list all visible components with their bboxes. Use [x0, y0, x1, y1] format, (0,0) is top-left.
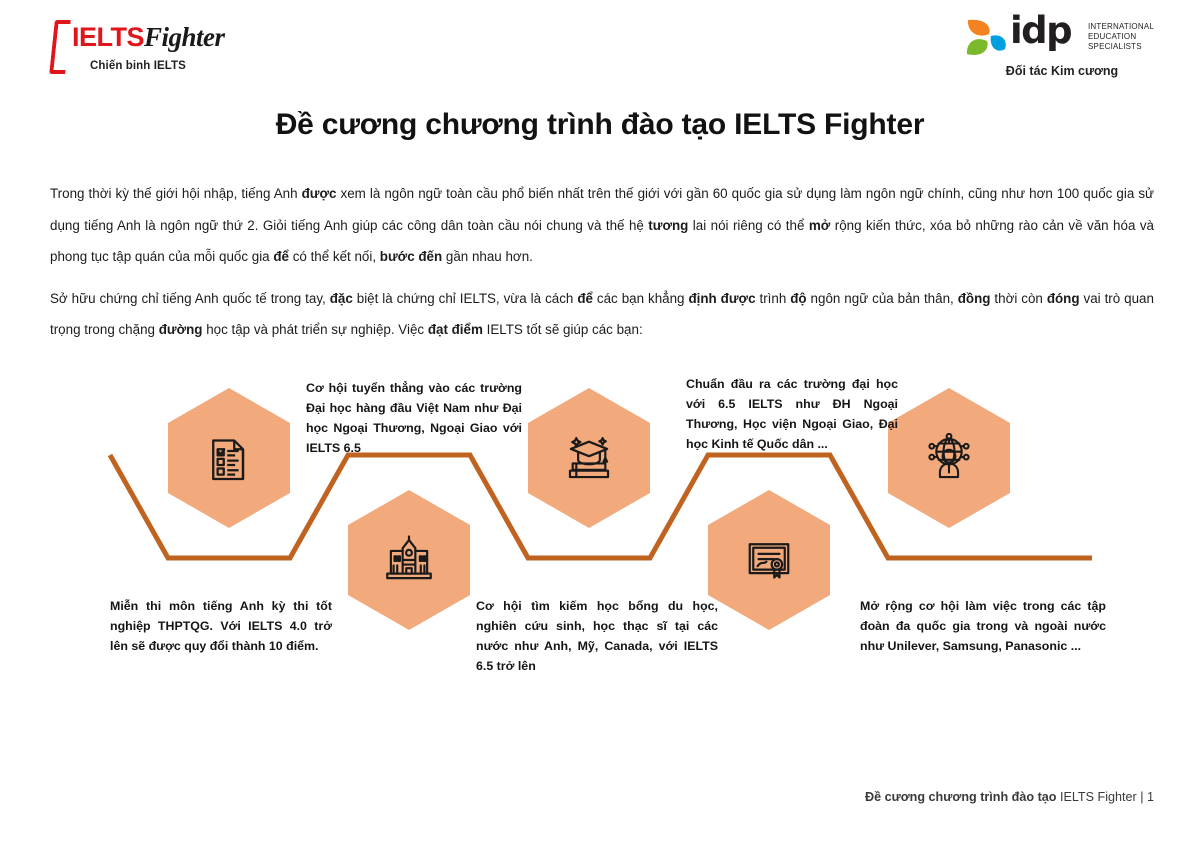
benefits-infographic: Cơ hội tuyển thẳng vào các trường Đại họ… [0, 360, 1200, 690]
callout-node-5: Mở rộng cơ hội làm việc trong các tập đo… [860, 596, 1106, 656]
idp-subtitle-line-3: SPECIALISTS [1088, 42, 1154, 52]
page-title: Đề cương chương trình đào tạo IELTS Figh… [0, 108, 1200, 142]
ielts-fighter-logo: IELTSFighter Chiến binh IELTS [52, 16, 242, 86]
idp-leaf-mark-icon [964, 18, 1008, 58]
idp-partner-label: Đối tác Kim cương [970, 64, 1154, 78]
university-building-icon [380, 531, 438, 589]
callout-node-1: Miễn thi môn tiếng Anh kỳ thi tốt nghiệp… [110, 596, 332, 656]
footer-page-number: IELTS Fighter | 1 [1056, 790, 1154, 804]
idp-subtitle-line-1: INTERNATIONAL [1088, 22, 1154, 32]
footer-title: Đề cương chương trình đào tạo [865, 790, 1056, 804]
document-body: Trong thời kỳ thế giới hội nhập, tiếng A… [50, 178, 1154, 356]
logo-wordmark: IELTSFighter [72, 24, 225, 51]
certificate-icon [741, 532, 797, 588]
page-header: IELTSFighter Chiến binh IELTS idp INTERN… [0, 0, 1200, 95]
idp-subtitle-line-2: EDUCATION [1088, 32, 1154, 42]
logo-fighter-text: Fighter [144, 22, 225, 52]
callout-node-3: Cơ hội tìm kiếm học bổng du học, nghiên … [476, 596, 718, 676]
checklist-icon [201, 430, 257, 486]
idp-subtitle: INTERNATIONAL EDUCATION SPECIALISTS [1088, 22, 1154, 51]
logo-bracket-icon [49, 20, 71, 74]
logo-ielts-text: IELTS [72, 22, 144, 52]
logo-tagline: Chiến binh IELTS [90, 60, 186, 72]
callout-node-2: Cơ hội tuyển thẳng vào các trường Đại họ… [306, 378, 522, 458]
global-network-person-icon [920, 429, 978, 487]
page-footer: Đề cương chương trình đào tạo IELTS Figh… [865, 790, 1154, 804]
paragraph-1: Trong thời kỳ thế giới hội nhập, tiếng A… [50, 178, 1154, 273]
paragraph-2: Sở hữu chứng chỉ tiếng Anh quốc tế trong… [50, 283, 1154, 346]
callout-node-4: Chuẩn đầu ra các trường đại học với 6.5 … [686, 374, 898, 454]
idp-logo: idp INTERNATIONAL EDUCATION SPECIALISTS … [962, 10, 1162, 88]
graduation-cap-books-icon [560, 429, 618, 487]
idp-wordmark: idp [1010, 12, 1071, 49]
